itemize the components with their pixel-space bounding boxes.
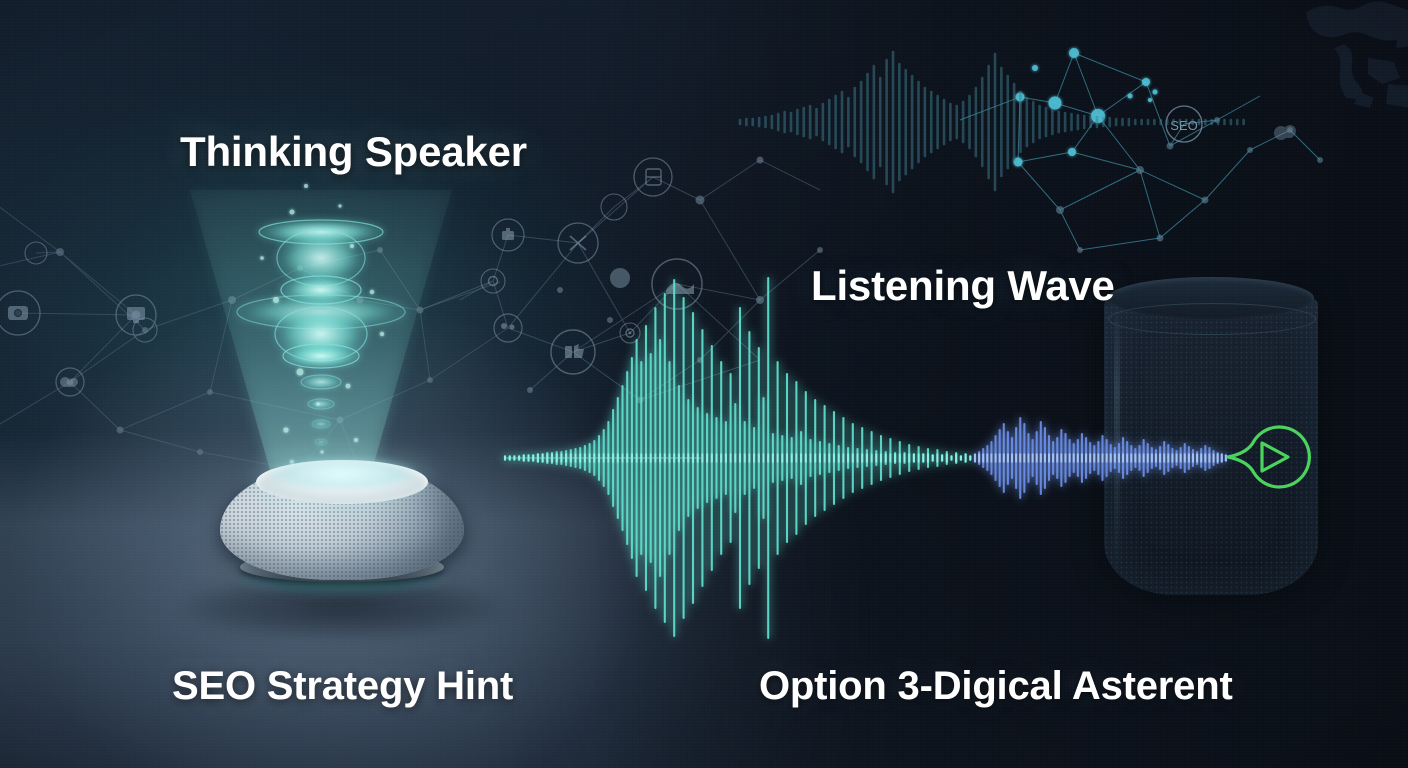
listening-waveform [0,0,1408,768]
page-title-listening-wave: Listening Wave [811,262,1115,310]
caption-option-label: Option 3-Digical Asterent [759,664,1233,709]
play-button[interactable] [1222,410,1316,504]
scene-canvas: SEO [0,0,1408,768]
caption-seo-strategy-hint: SEO Strategy Hint [172,664,513,709]
page-title-thinking-speaker: Thinking Speaker [180,128,527,176]
play-triangle-icon [1262,443,1288,471]
